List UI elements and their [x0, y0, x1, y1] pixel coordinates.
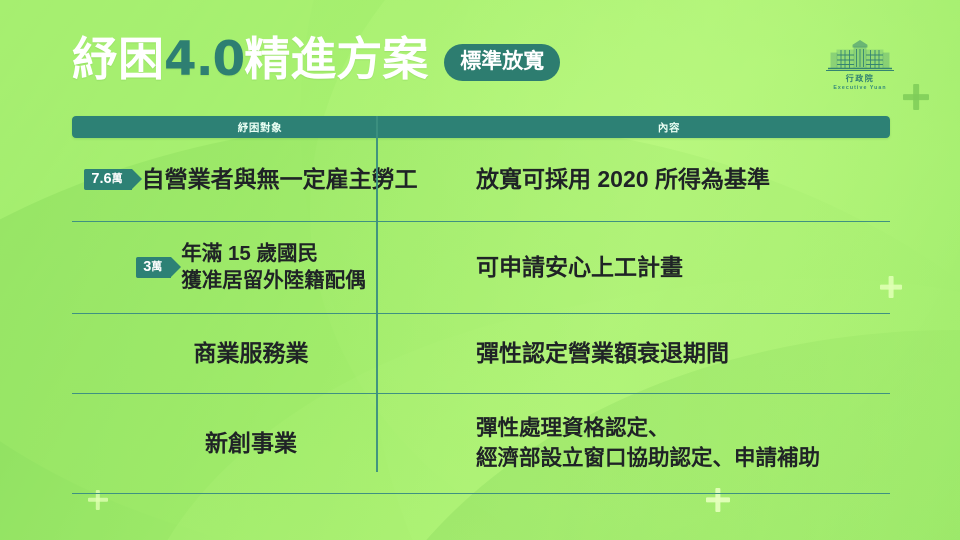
table-header-row: 紓困對象 內容: [72, 116, 890, 138]
table-row: 新創事業 彈性處理資格認定、 經濟部設立窗口協助認定、申請補助: [72, 394, 890, 494]
row-content-line: 彈性認定營業額衰退期間: [476, 338, 890, 369]
page-title: 紓困4.0精進方案: [72, 36, 428, 83]
row-object-cell: 3萬 年滿 15 歲國民 獲准居留外陸籍配偶: [72, 241, 448, 293]
row-object-cell: 商業服務業: [72, 339, 448, 368]
count-tag: 7.6萬: [84, 169, 131, 190]
count-tag-value: 7.6: [91, 172, 111, 187]
executive-yuan-logo: 行政院 Executive Yuan: [806, 38, 914, 104]
column-header-object: 紓困對象: [72, 120, 448, 135]
row-content-cell: 彈性認定營業額衰退期間: [448, 338, 890, 369]
government-building-icon: [806, 38, 914, 72]
relief-measures-table: 紓困對象 內容 7.6萬 自營業者與無一定雇主勞工 放寬可採用 2020 所得為…: [72, 116, 890, 494]
title-part-2: 精進方案: [244, 33, 428, 85]
table-row: 商業服務業 彈性認定營業額衰退期間: [72, 314, 890, 394]
table-row: 7.6萬 自營業者與無一定雇主勞工 放寬可採用 2020 所得為基準: [72, 138, 890, 222]
title-version: 4.0: [164, 32, 244, 87]
row-content-line: 放寬可採用 2020 所得為基準: [476, 164, 890, 195]
count-tag-value: 3: [143, 260, 151, 275]
count-tag: 3萬: [136, 257, 171, 278]
row-object-text: 新創事業: [205, 429, 297, 458]
count-tag-unit: 萬: [151, 262, 162, 273]
logo-english-name: Executive Yuan: [806, 85, 914, 91]
logo-chinese-name: 行政院: [806, 73, 914, 84]
title-part-1: 紓困: [72, 33, 164, 85]
count-tag-unit: 萬: [112, 174, 123, 185]
slide-canvas: 紓困4.0精進方案 標準放寬: [0, 0, 960, 540]
row-content-line: 可申請安心上工計畫: [476, 252, 890, 283]
row-object-text: 商業服務業: [194, 339, 309, 368]
row-object-text-group: 年滿 15 歲國民 獲准居留外陸籍配偶: [181, 241, 366, 293]
row-content-line: 彈性處理資格認定、: [476, 414, 890, 443]
table-vertical-divider: [376, 116, 378, 472]
row-object-line: 年滿 15 歲國民: [181, 241, 366, 267]
row-object-cell: 新創事業: [72, 429, 448, 458]
column-header-content: 內容: [448, 120, 890, 135]
title-badge: 標準放寬: [444, 44, 560, 81]
row-object-cell: 7.6萬 自營業者與無一定雇主勞工: [72, 165, 448, 194]
row-content-cell: 放寬可採用 2020 所得為基準: [448, 164, 890, 195]
table-row: 3萬 年滿 15 歲國民 獲准居留外陸籍配偶 可申請安心上工計畫: [72, 222, 890, 314]
row-content-cell: 可申請安心上工計畫: [448, 252, 890, 283]
row-content-cell: 彈性處理資格認定、 經濟部設立窗口協助認定、申請補助: [448, 414, 890, 472]
title-row: 紓困4.0精進方案 標準放寬: [72, 36, 560, 83]
row-content-line: 經濟部設立窗口協助認定、申請補助: [476, 444, 890, 473]
row-object-line: 獲准居留外陸籍配偶: [181, 268, 366, 294]
